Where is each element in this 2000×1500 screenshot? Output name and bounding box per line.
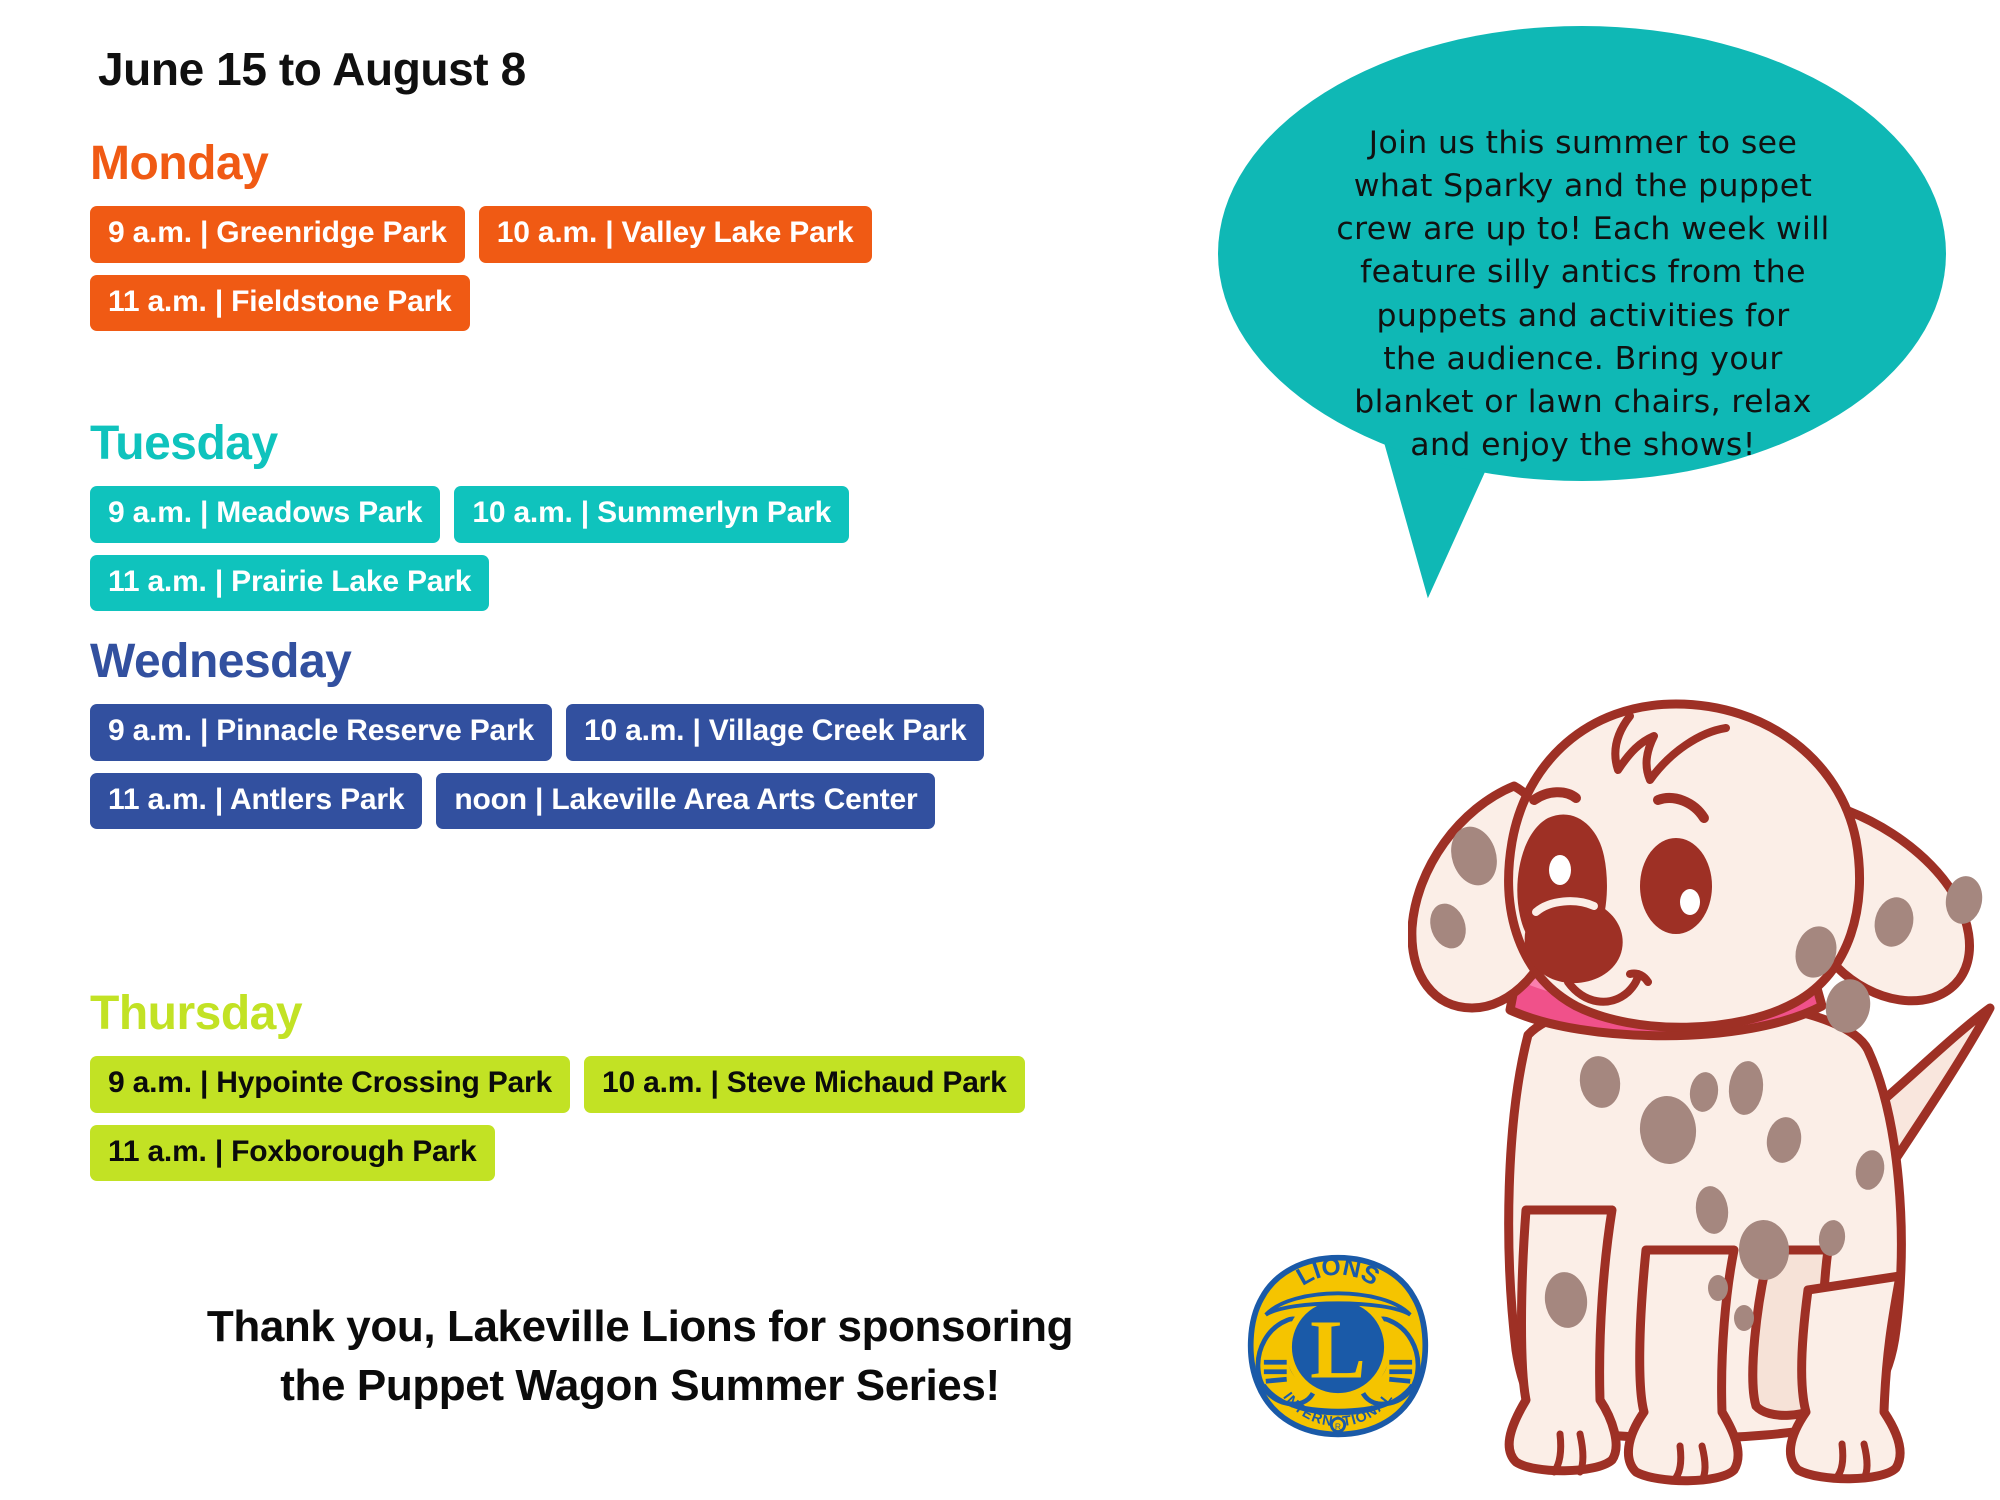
- speech-bubble: Join us this summer to see what Sparky a…: [1218, 26, 1946, 481]
- schedule-panel: June 15 to August 8 Monday 9 a.m. | Gree…: [0, 0, 1250, 1500]
- schedule-badge[interactable]: 9 a.m. | Greenridge Park: [90, 206, 465, 263]
- day-heading-thursday: Thursday: [90, 990, 1025, 1038]
- lions-international-logo: L LIONS INTERNATIONAL R: [1243, 1252, 1433, 1442]
- schedule-badge[interactable]: noon | Lakeville Area Arts Center: [436, 773, 935, 830]
- schedule-badge[interactable]: 9 a.m. | Meadows Park: [90, 486, 440, 543]
- badge-row: 11 a.m. | Prairie Lake Park: [90, 555, 849, 612]
- day-section-tuesday: Tuesday 9 a.m. | Meadows Park 10 a.m. | …: [90, 420, 849, 623]
- badge-row: 11 a.m. | Fieldstone Park: [90, 275, 872, 332]
- schedule-badge[interactable]: 10 a.m. | Valley Lake Park: [479, 206, 872, 263]
- day-section-monday: Monday 9 a.m. | Greenridge Park 10 a.m. …: [90, 140, 872, 343]
- day-section-wednesday: Wednesday 9 a.m. | Pinnacle Reserve Park…: [90, 638, 984, 841]
- schedule-badge[interactable]: 9 a.m. | Hypointe Crossing Park: [90, 1056, 570, 1113]
- dalmatian-puppy-illustration: [1408, 690, 2000, 1500]
- schedule-badge[interactable]: 11 a.m. | Fieldstone Park: [90, 275, 470, 332]
- schedule-badge[interactable]: 11 a.m. | Antlers Park: [90, 773, 422, 830]
- schedule-badge[interactable]: 9 a.m. | Pinnacle Reserve Park: [90, 704, 552, 761]
- lions-letter-l: L: [1310, 1304, 1366, 1396]
- badge-row: 9 a.m. | Greenridge Park 10 a.m. | Valle…: [90, 206, 872, 263]
- schedule-badge[interactable]: 11 a.m. | Prairie Lake Park: [90, 555, 489, 612]
- badge-row: 9 a.m. | Pinnacle Reserve Park 10 a.m. |…: [90, 704, 984, 761]
- badge-row: 11 a.m. | Foxborough Park: [90, 1125, 1025, 1182]
- schedule-badge[interactable]: 11 a.m. | Foxborough Park: [90, 1125, 495, 1182]
- schedule-badge[interactable]: 10 a.m. | Steve Michaud Park: [584, 1056, 1025, 1113]
- svg-text:R: R: [1335, 1422, 1341, 1432]
- schedule-badge[interactable]: 10 a.m. | Summerlyn Park: [454, 486, 849, 543]
- dog-front-left-leg: [1509, 1210, 1616, 1471]
- thank-you-text: Thank you, Lakeville Lions for sponsorin…: [60, 1298, 1220, 1415]
- day-heading-monday: Monday: [90, 140, 872, 188]
- dog-eye-right: [1640, 838, 1712, 934]
- badge-row: 9 a.m. | Hypointe Crossing Park 10 a.m. …: [90, 1056, 1025, 1113]
- day-section-thursday: Thursday 9 a.m. | Hypointe Crossing Park…: [90, 990, 1025, 1193]
- badge-row: 9 a.m. | Meadows Park 10 a.m. | Summerly…: [90, 486, 849, 543]
- day-heading-tuesday: Tuesday: [90, 420, 849, 468]
- day-heading-wednesday: Wednesday: [90, 638, 984, 686]
- schedule-badge[interactable]: 10 a.m. | Village Creek Park: [566, 704, 984, 761]
- speech-bubble-text: Join us this summer to see what Sparky a…: [1276, 122, 1890, 467]
- page-title: June 15 to August 8: [98, 42, 526, 96]
- badge-row: 11 a.m. | Antlers Park noon | Lakeville …: [90, 773, 984, 830]
